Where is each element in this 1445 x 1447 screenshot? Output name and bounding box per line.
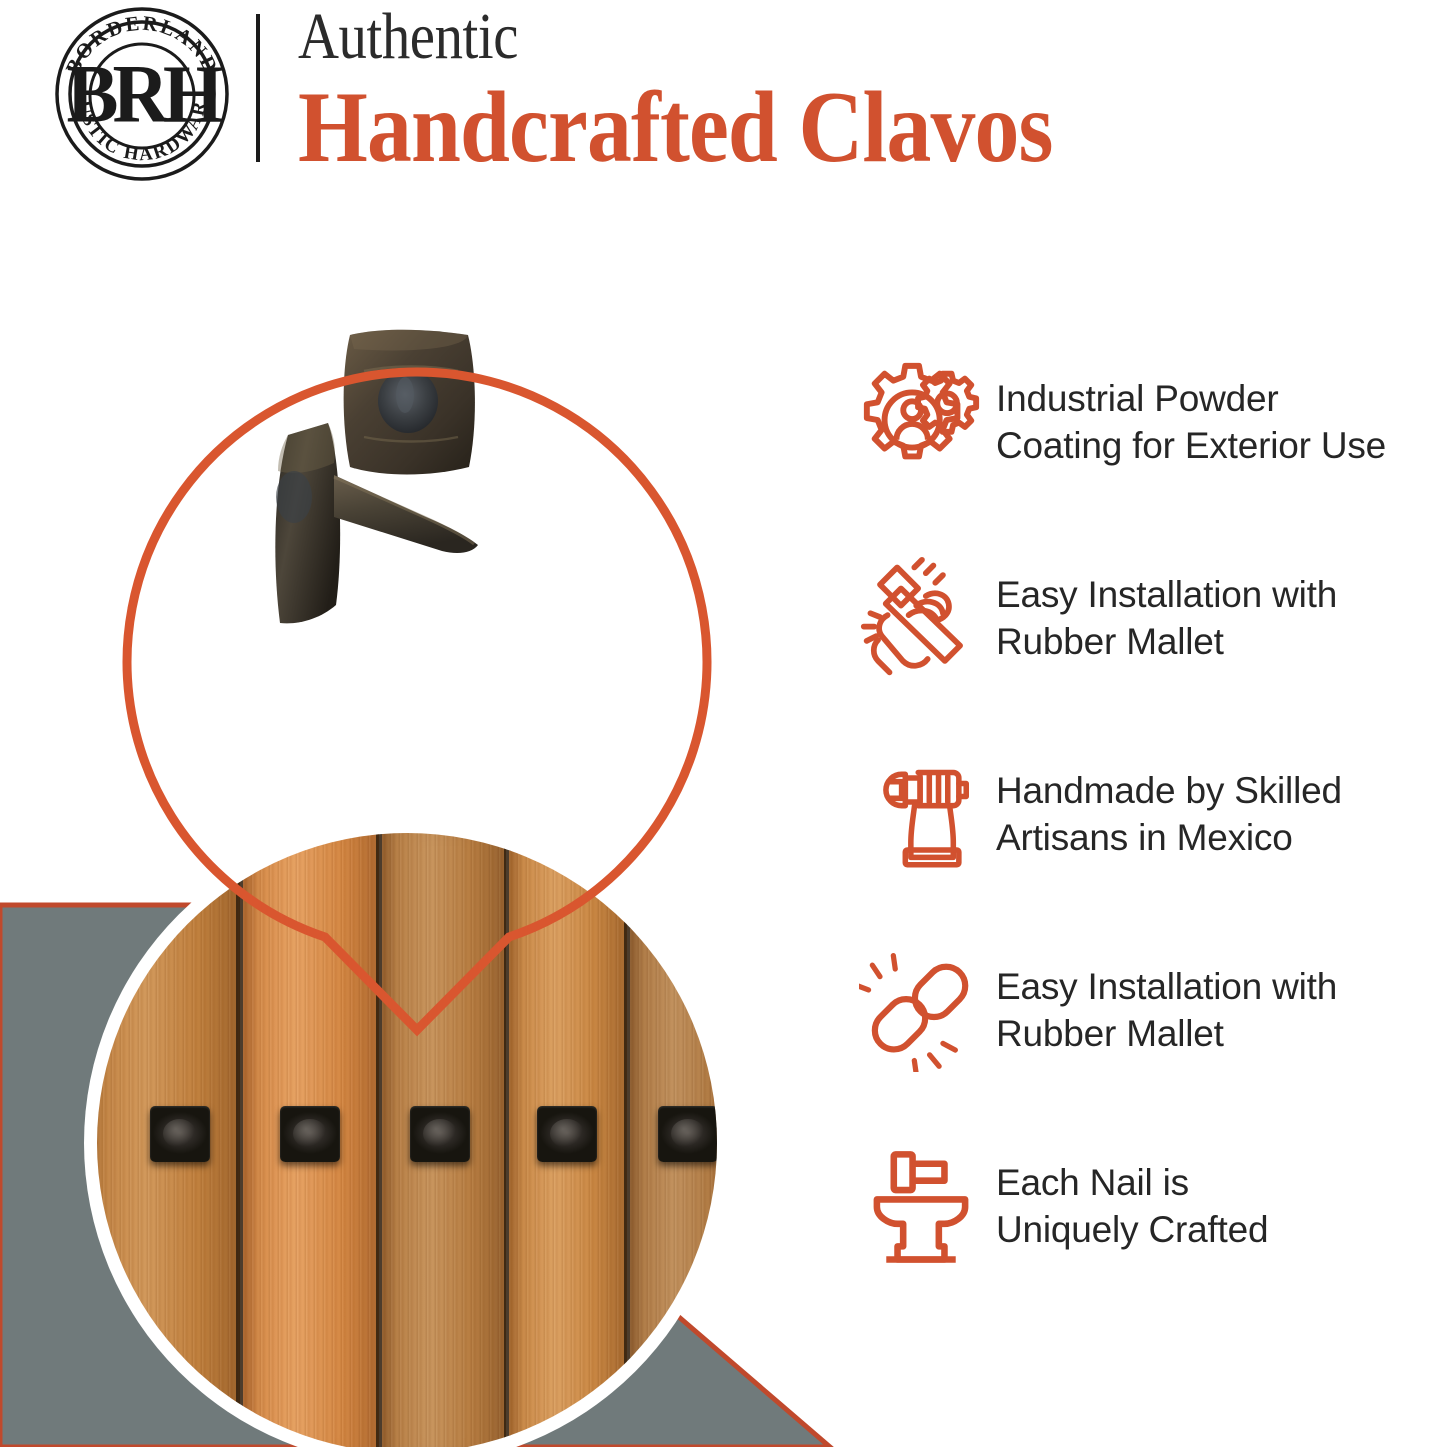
brand-logo[interactable]: BORDERLAND RUSTIC HARDWARE BRH (52, 4, 232, 184)
feature-label-line1: Each Nail is (996, 1159, 1268, 1206)
feature-item: Handmade by Skilled Artisans in Mexico (846, 750, 1445, 878)
feature-item: Easy Installation with Rubber Mallet (846, 946, 1445, 1074)
feature-label-line1: Handmade by Skilled (996, 767, 1342, 814)
header: BORDERLAND RUSTIC HARDWARE BRH Authentic… (0, 0, 1445, 200)
feature-item: Industrial Powder Coating for Exterior U… (846, 358, 1445, 486)
feature-label-line2: Rubber Mallet (996, 1010, 1337, 1057)
feature-label-line2: Rubber Mallet (996, 618, 1337, 665)
feature-label-line1: Easy Installation with (996, 571, 1337, 618)
feature-label: Each Nail is Uniquely Crafted (996, 1159, 1268, 1253)
feature-label-line1: Industrial Powder (996, 375, 1386, 422)
feature-list: Industrial Powder Coating for Exterior U… (846, 358, 1445, 1270)
anvil-with-hammer-icon (846, 1145, 996, 1267)
feature-label-line2: Artisans in Mexico (996, 814, 1342, 861)
feature-label: Easy Installation with Rubber Mallet (996, 963, 1337, 1057)
hand-holding-mallet-icon (846, 556, 996, 680)
feature-label: Easy Installation with Rubber Mallet (996, 571, 1337, 665)
gears-with-person-icon (846, 358, 996, 486)
product-visual-column (0, 200, 820, 1447)
page-title: Handcrafted Clavos (298, 76, 1053, 180)
header-eyebrow: Authentic (298, 2, 1035, 72)
infographic-canvas: BORDERLAND RUSTIC HARDWARE BRH Authentic… (0, 0, 1445, 1447)
svg-text:BRH: BRH (67, 49, 224, 141)
feature-label: Handmade by Skilled Artisans in Mexico (996, 767, 1342, 861)
fist-gripping-wrench-icon (846, 754, 996, 874)
feature-label: Industrial Powder Coating for Exterior U… (996, 375, 1386, 469)
feature-label-line2: Coating for Exterior Use (996, 422, 1386, 469)
header-divider (256, 14, 260, 162)
feature-label-line1: Easy Installation with (996, 963, 1337, 1010)
feature-label-line2: Uniquely Crafted (996, 1206, 1268, 1253)
highlight-pin-outline (0, 200, 820, 1447)
chain-links-icon (846, 948, 996, 1072)
title-block: Authentic Handcrafted Clavos (298, 2, 1155, 180)
feature-item: Easy Installation with Rubber Mallet (846, 554, 1445, 682)
borderland-rustic-hardware-logo-icon: BORDERLAND RUSTIC HARDWARE BRH (52, 4, 232, 184)
feature-item: Each Nail is Uniquely Crafted (846, 1142, 1445, 1270)
